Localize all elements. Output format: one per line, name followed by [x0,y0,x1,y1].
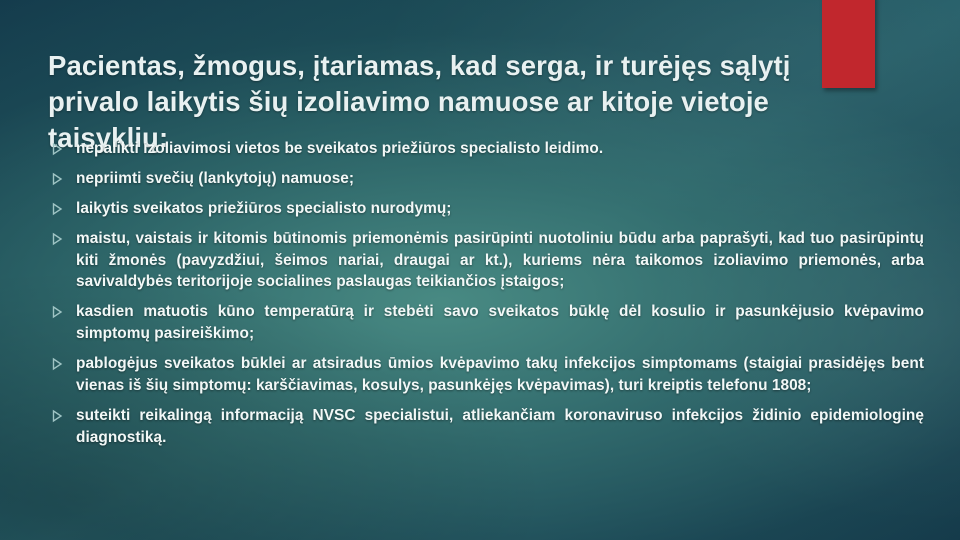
list-item: laikytis sveikatos priežiūros specialist… [44,198,924,220]
triangle-right-icon [50,232,64,246]
list-item-label: kasdien matuotis kūno temperatūrą ir ste… [76,301,924,345]
list-item: pablogėjus sveikatos būklei ar atsiradus… [44,353,924,397]
list-item: maistu, vaistais ir kitomis būtinomis pr… [44,228,924,294]
triangle-right-icon [50,357,64,371]
triangle-right-icon [50,409,64,423]
list-item-label: suteikti reikalingą informaciją NVSC spe… [76,405,924,449]
list-item-label: pablogėjus sveikatos būklei ar atsiradus… [76,353,924,397]
list-item: kasdien matuotis kūno temperatūrą ir ste… [44,301,924,345]
list-item-label: nepalikti izoliavimosi vietos be sveikat… [76,138,924,160]
triangle-right-icon [50,172,64,186]
list-item-label: maistu, vaistais ir kitomis būtinomis pr… [76,228,924,294]
list-item-label: laikytis sveikatos priežiūros specialist… [76,198,924,220]
triangle-right-icon [50,142,64,156]
list-item: suteikti reikalingą informaciją NVSC spe… [44,405,924,449]
list-item-label: nepriimti svečių (lankytojų) namuose; [76,168,924,190]
list-item: nepalikti izoliavimosi vietos be sveikat… [44,138,924,160]
rules-bullet-list: nepalikti izoliavimosi vietos be sveikat… [44,138,924,457]
triangle-right-icon [50,305,64,319]
triangle-right-icon [50,202,64,216]
list-item: nepriimti svečių (lankytojų) namuose; [44,168,924,190]
presentation-slide: Pacientas, žmogus, įtariamas, kad serga,… [0,0,960,540]
